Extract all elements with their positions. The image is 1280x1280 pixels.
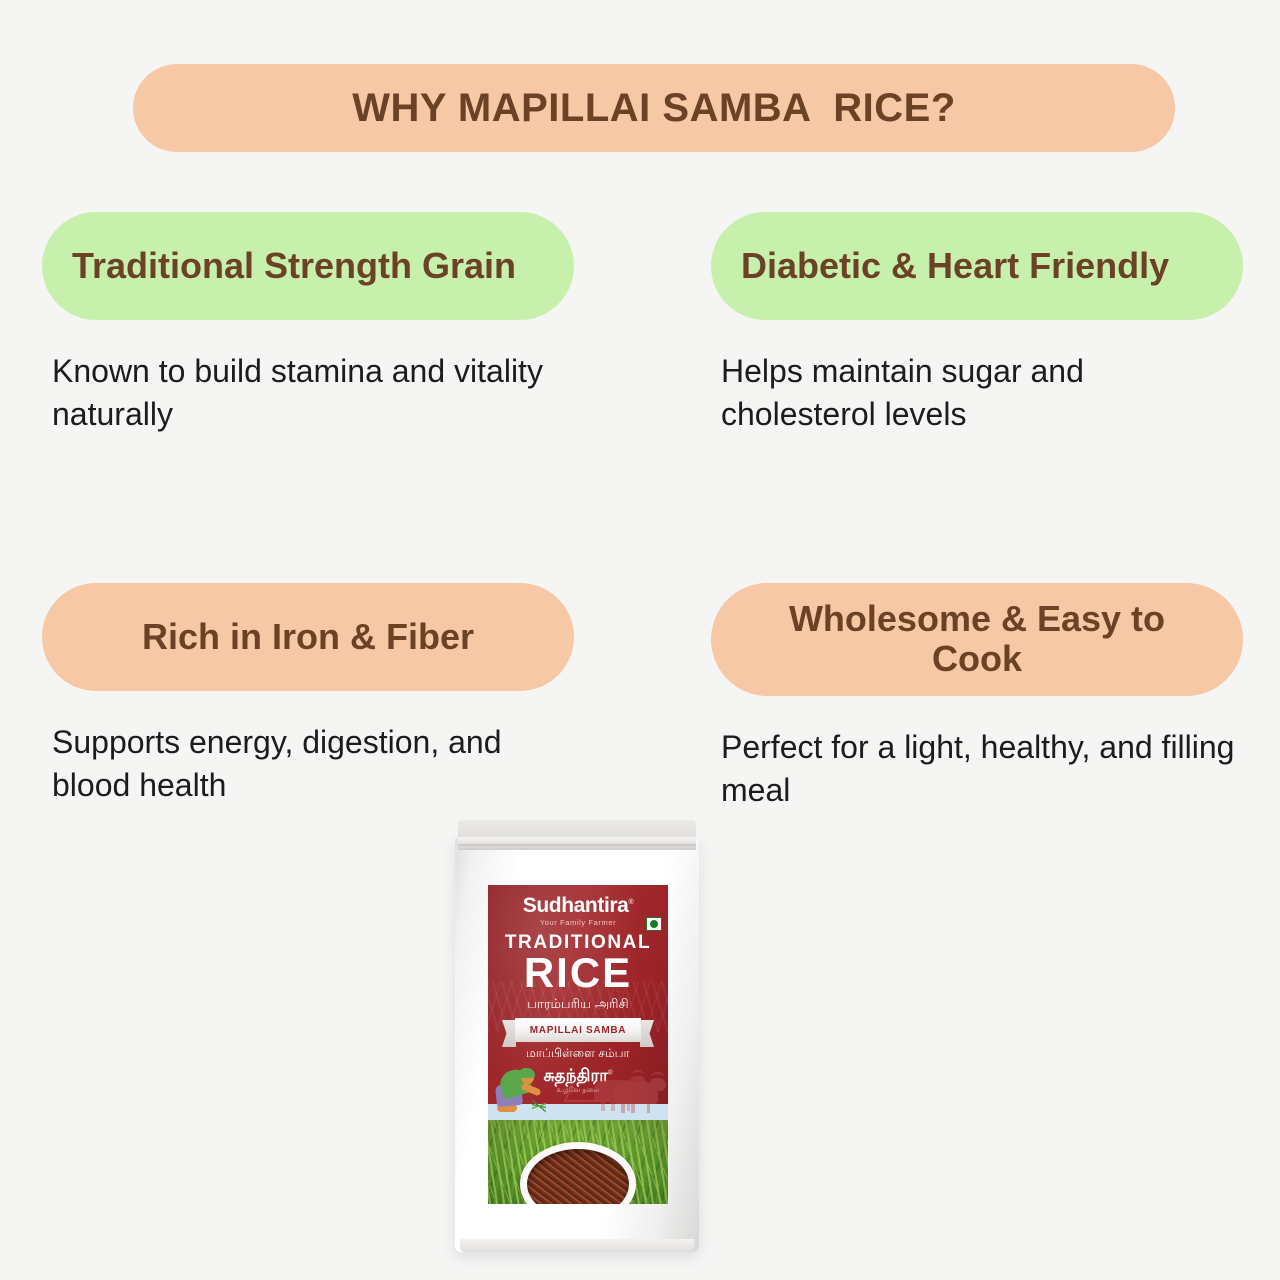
package-front-label: Sudhantira® Your Family Farmer TRADITION… xyxy=(488,885,668,1120)
feature-title: Diabetic & Heart Friendly xyxy=(741,246,1169,286)
product-package-image: Sudhantira® Your Family Farmer TRADITION… xyxy=(455,820,699,1252)
vegetarian-mark-dot xyxy=(650,920,658,928)
ox-leg xyxy=(621,1102,625,1113)
plough-icon xyxy=(564,1082,619,1102)
package-product-line-2: RICE xyxy=(488,952,668,994)
feature-pill-traditional-strength-grain: Traditional Strength Grain xyxy=(42,212,574,320)
ox-icon xyxy=(614,1082,658,1104)
package-brand-name: Sudhantira® xyxy=(523,895,633,916)
bullock-pair-icon xyxy=(568,1070,660,1104)
ox-leg xyxy=(631,1102,635,1113)
feature-card-rich-in-iron-fiber: Rich in Iron & Fiber Supports energy, di… xyxy=(42,583,574,807)
feature-description: Supports energy, digestion, and blood he… xyxy=(42,721,574,807)
feature-description: Known to build stamina and vitality natu… xyxy=(42,350,574,436)
farmer-head-scarf xyxy=(518,1068,535,1078)
registered-trademark-icon: ® xyxy=(628,899,633,906)
pouch-bottom-fold xyxy=(460,1239,694,1252)
package-brand-block: Sudhantira® Your Family Farmer xyxy=(488,895,668,927)
package-variety-ribbon: MAPILLAI SAMBA xyxy=(502,1018,654,1042)
package-variety-tamil: மாப்பிள்ளை சம்பா xyxy=(488,1047,668,1059)
ribbon-tail-right xyxy=(640,1020,654,1047)
feature-card-diabetic-heart-friendly: Diabetic & Heart Friendly Helps maintain… xyxy=(711,212,1243,436)
package-paddy-field-photo xyxy=(488,1120,668,1204)
package-brand-tagline: Your Family Farmer xyxy=(488,919,668,927)
package-product-tamil: பாரம்பரிய அரிசி xyxy=(488,997,668,1010)
feature-title: Wholesome & Easy to Cook xyxy=(741,599,1213,680)
feature-description: Helps maintain sugar and cholesterol lev… xyxy=(711,350,1243,436)
ribbon-tail-left xyxy=(502,1020,516,1047)
feature-title: Traditional Strength Grain xyxy=(72,246,516,286)
feature-pill-wholesome-easy-to-cook: Wholesome & Easy to Cook xyxy=(711,583,1243,696)
vegetarian-mark-icon xyxy=(646,917,662,931)
rice-seedling-icon xyxy=(532,1098,546,1114)
feature-title: Rich in Iron & Fiber xyxy=(142,617,474,657)
pouch-top-seal xyxy=(458,820,696,850)
ox-horn xyxy=(651,1072,664,1083)
ox-leg xyxy=(647,1102,651,1113)
rice-grains xyxy=(527,1149,629,1204)
feature-description: Perfect for a light, healthy, and fillin… xyxy=(711,726,1243,812)
package-farming-illustration xyxy=(488,1066,668,1120)
feature-card-traditional-strength-grain: Traditional Strength Grain Known to buil… xyxy=(42,212,574,436)
feature-card-wholesome-easy-to-cook: Wholesome & Easy to Cook Perfect for a l… xyxy=(711,583,1243,812)
feature-pill-diabetic-heart-friendly: Diabetic & Heart Friendly xyxy=(711,212,1243,320)
package-variety-name: MAPILLAI SAMBA xyxy=(530,1025,626,1036)
package-brand-name-text: Sudhantira xyxy=(523,894,629,917)
ribbon-center: MAPILLAI SAMBA xyxy=(515,1018,641,1042)
feature-pill-rich-in-iron-fiber: Rich in Iron & Fiber xyxy=(42,583,574,691)
ox-horn xyxy=(631,1070,644,1081)
